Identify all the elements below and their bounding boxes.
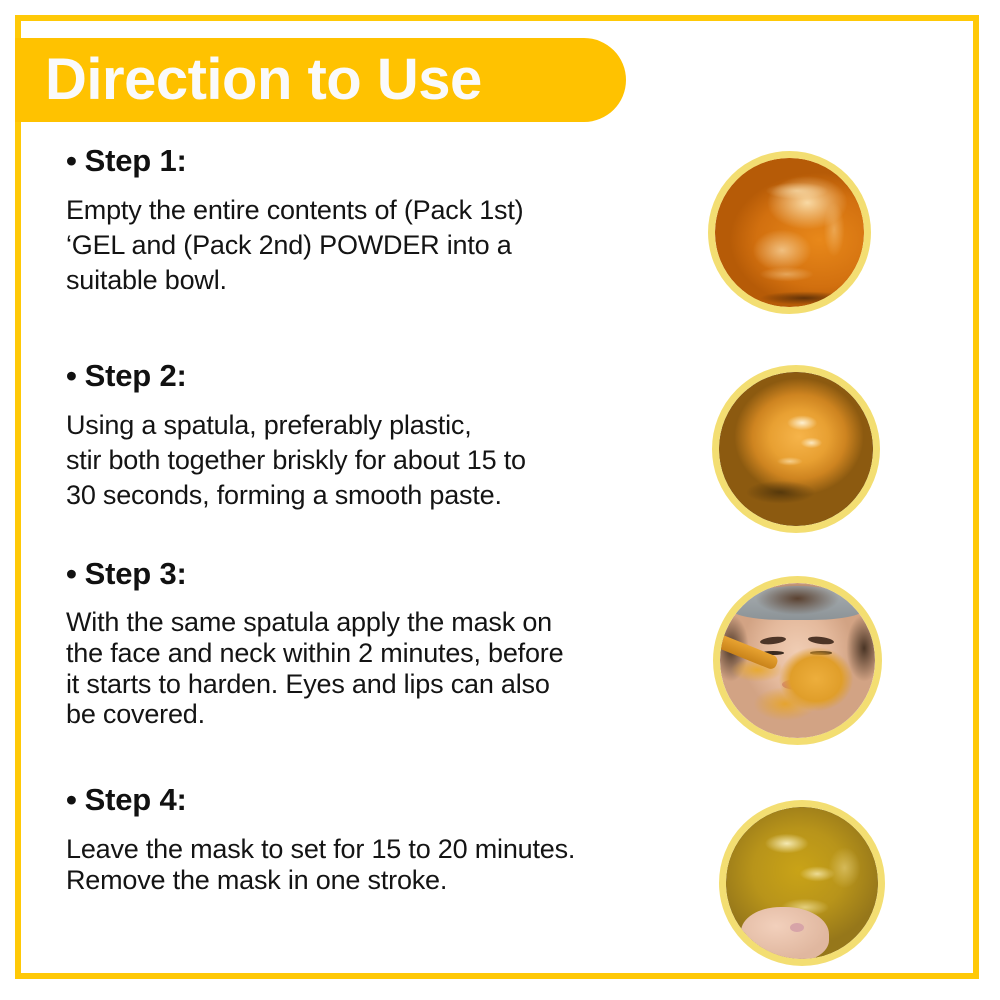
step-2-line-1: Using a spatula, preferably plastic, xyxy=(66,408,696,443)
step-4-line-1: Leave the mask to set for 15 to 20 minut… xyxy=(66,834,696,865)
step-1-line-1: Empty the entire contents of (Pack 1st) xyxy=(66,193,696,228)
step-1-line-2: ‘GEL and (Pack 2nd) POWDER into a xyxy=(66,228,696,263)
step-4-heading-label: Step 4: xyxy=(85,782,187,817)
step-2-photo xyxy=(712,365,880,533)
peel-off-mask-icon xyxy=(726,807,878,959)
step-1-photo-image xyxy=(715,158,864,307)
step-2-line-3: 30 seconds, forming a smooth paste. xyxy=(66,478,696,513)
mixing-bowl-icon xyxy=(719,372,873,526)
step-3-line-3: it starts to harden. Eyes and lips can a… xyxy=(66,669,696,700)
step-item-4: •Step 4: Leave the mask to set for 15 to… xyxy=(66,782,696,896)
step-2-body: Using a spatula, preferably plastic, sti… xyxy=(66,408,696,513)
step-2-line-2: stir both together briskly for about 15 … xyxy=(66,443,696,478)
step-4-photo xyxy=(719,800,885,966)
bullet-icon: • xyxy=(66,556,77,592)
step-item-1: •Step 1: Empty the entire contents of (P… xyxy=(66,143,696,298)
page-title: Direction to Use xyxy=(45,51,482,109)
step-3-line-2: the face and neck within 2 minutes, befo… xyxy=(66,638,696,669)
step-3-line-4: be covered. xyxy=(66,699,696,730)
step-1-heading-label: Step 1: xyxy=(85,143,187,178)
bullet-icon: • xyxy=(66,358,77,394)
step-4-photo-image xyxy=(726,807,878,959)
step-3-body: With the same spatula apply the mask on … xyxy=(66,607,696,730)
bullet-icon: • xyxy=(66,782,77,818)
step-1-photo xyxy=(708,151,871,314)
step-3-photo-image xyxy=(720,583,875,738)
step-3-heading-label: Step 3: xyxy=(85,556,187,591)
step-2-heading: •Step 2: xyxy=(66,358,696,394)
step-3-line-1: With the same spatula apply the mask on xyxy=(66,607,696,638)
step-2-heading-label: Step 2: xyxy=(85,358,187,393)
step-3-photo xyxy=(713,576,882,745)
step-2-photo-image xyxy=(719,372,873,526)
bullet-icon: • xyxy=(66,143,77,179)
step-1-body: Empty the entire contents of (Pack 1st) … xyxy=(66,193,696,298)
step-1-heading: •Step 1: xyxy=(66,143,696,179)
step-4-heading: •Step 4: xyxy=(66,782,696,818)
header-banner: Direction to Use xyxy=(15,38,626,122)
step-item-2: •Step 2: Using a spatula, preferably pla… xyxy=(66,358,696,513)
step-4-body: Leave the mask to set for 15 to 20 minut… xyxy=(66,834,696,896)
gel-jar-icon xyxy=(715,158,864,307)
step-1-line-3: suitable bowl. xyxy=(66,263,696,298)
face-mask-application-icon xyxy=(720,583,875,738)
direction-to-use-card: Direction to Use •Step 1: Empty the enti… xyxy=(0,0,1000,1000)
step-3-heading: •Step 3: xyxy=(66,556,696,592)
step-item-3: •Step 3: With the same spatula apply the… xyxy=(66,556,696,730)
step-4-line-2: Remove the mask in one stroke. xyxy=(66,865,696,896)
